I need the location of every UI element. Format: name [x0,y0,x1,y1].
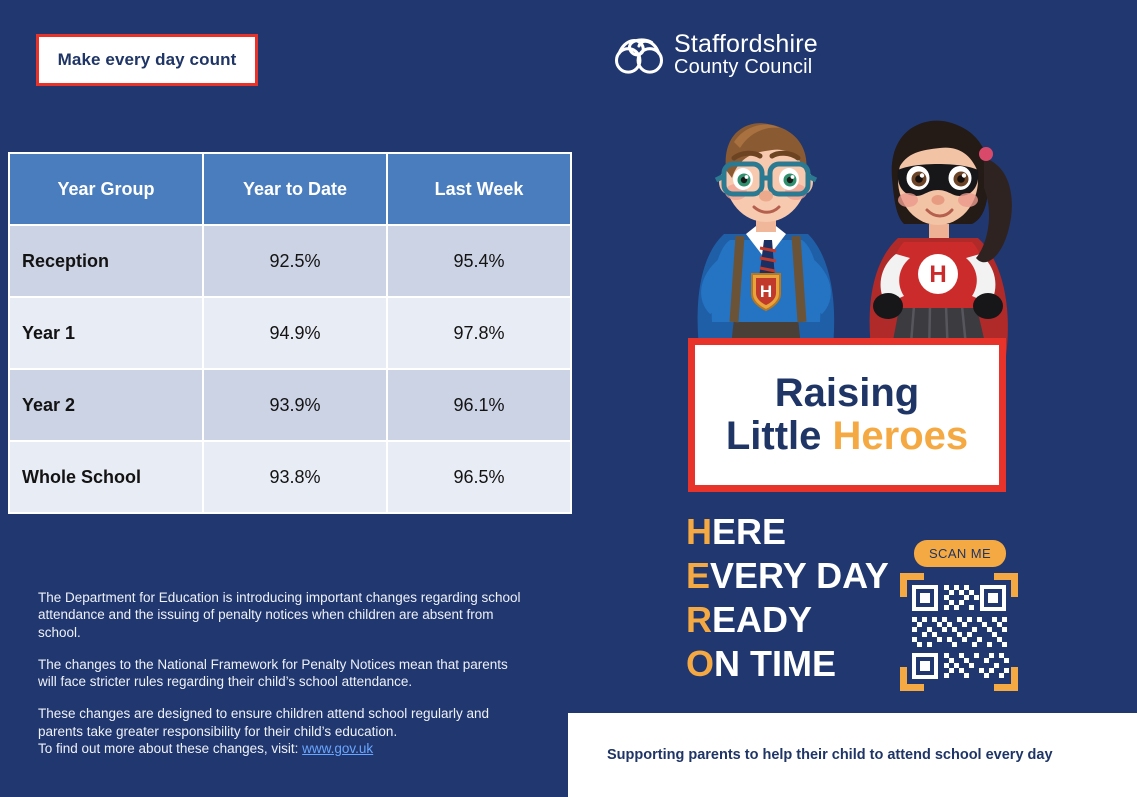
hero-word-here: ERE [712,511,786,552]
cell-last-week: 95.4% [388,226,570,296]
column-header-year-group: Year Group [10,154,202,224]
cell-year-group: Whole School [10,442,202,512]
cell-year-group: Reception [10,226,202,296]
paragraph-dfe-changes: The Department for Education is introduc… [38,589,530,641]
hero-acronym-line-every-day: EVERY DAY [686,554,916,598]
girl-superhero-character: H [852,108,1030,356]
hero-acronym-line-on-time: ON TIME [686,642,916,686]
hero-word-every-day: VERY DAY [710,555,889,596]
banner-line-1: Raising [775,372,919,415]
cell-last-week: 96.1% [388,370,570,440]
staffordshire-knot-icon [612,33,666,77]
footer-strip: Supporting parents to help their child t… [568,713,1137,797]
scan-me-badge: SCAN ME [914,540,1006,567]
hero-word-on-time: N TIME [714,643,836,684]
table-row: Year 1 94.9% 97.8% [10,298,570,368]
find-out-more-text: To find out more about these changes, vi… [38,741,302,756]
staffordshire-county-council-logo: Staffordshire County Council [612,32,818,77]
logo-line-1: Staffordshire [674,32,818,57]
cell-year-group: Year 2 [10,370,202,440]
attendance-table: Year Group Year to Date Last Week Recept… [8,152,572,514]
poster-canvas: Make every day count Year Group Year to … [0,0,1137,797]
hero-initial-o: O [686,643,714,684]
column-header-last-week: Last Week [388,154,570,224]
information-copy: The Department for Education is introduc… [38,589,530,757]
tagline-text: Make every day count [58,50,237,70]
logo-line-2: County Council [674,57,818,77]
hero-acronym-line-ready: READY [686,598,916,642]
svg-text:H: H [929,261,946,288]
logo-wordmark: Staffordshire County Council [674,32,818,77]
banner-line-2: Little Heroes [726,415,968,458]
cell-year-to-date: 93.9% [204,370,386,440]
hero-word-ready: EADY [712,599,812,640]
tagline-box: Make every day count [36,34,258,86]
column-header-year-to-date: Year to Date [204,154,386,224]
table-row: Reception 92.5% 95.4% [10,226,570,296]
hero-acronym-line-here: HERE [686,510,916,554]
footer-text: Supporting parents to help their child t… [607,747,1053,763]
paragraph-penalty-framework: The changes to the National Framework fo… [38,656,530,691]
paragraph-purpose: These changes are designed to ensure chi… [38,705,530,757]
hero-initial-h: H [686,511,712,552]
table-row: Whole School 93.8% 96.5% [10,442,570,512]
paragraph-purpose-text: These changes are designed to ensure chi… [38,706,489,738]
table-row: Year 2 93.9% 96.1% [10,370,570,440]
cell-last-week: 97.8% [388,298,570,368]
gov-uk-link[interactable]: www.gov.uk [302,741,373,756]
banner-line-2-heroes: Heroes [833,414,969,458]
qr-code-block[interactable]: SCAN ME [896,540,1022,691]
cell-year-to-date: 94.9% [204,298,386,368]
raising-little-heroes-banner: Raising Little Heroes [688,338,1006,492]
cell-year-to-date: 92.5% [204,226,386,296]
boy-superhero-character: H [680,108,852,356]
hero-acronym-list: HERE EVERY DAY READY ON TIME [686,510,916,686]
hero-initial-r: R [686,599,712,640]
table-header-row: Year Group Year to Date Last Week [10,154,570,224]
svg-text:H: H [760,282,772,301]
cell-year-group: Year 1 [10,298,202,368]
cell-last-week: 96.5% [388,442,570,512]
hero-initial-e: E [686,555,710,596]
banner-line-2-little: Little [726,414,833,458]
qr-code-image[interactable] [900,573,1018,691]
scan-me-label: SCAN ME [929,546,991,561]
cell-year-to-date: 93.8% [204,442,386,512]
superhero-children-illustration: H [676,104,1032,356]
